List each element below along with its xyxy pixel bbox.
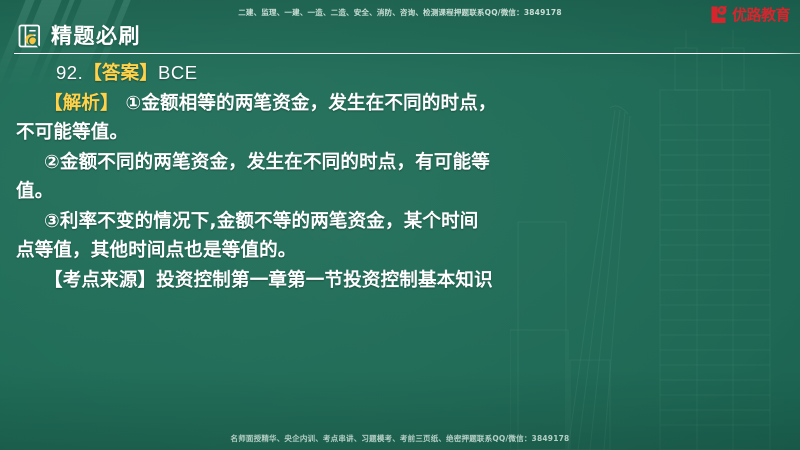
text-segment: 不可能等值。 <box>16 122 128 143</box>
brand-name: 优路教育 <box>732 8 790 23</box>
book-search-icon <box>16 22 44 50</box>
text-line: 不可能等值。 <box>16 118 616 148</box>
highlighted-label: 【答案】 <box>83 63 158 84</box>
text-line: 92.【答案】BCE <box>16 58 616 89</box>
page-title: 精题必刷 <box>51 26 141 47</box>
footer-promo-text: 名师面授精华、央企内训、考点串讲、习题模考、考前三页纸、绝密押题联系QQ/微信：… <box>0 433 800 444</box>
text-segment: ②金额不同的两笔资金，发生在不同的时点，有可能等 <box>44 152 490 173</box>
text-segment: 值。 <box>16 181 53 202</box>
text-segment: 【考点来源】投资控制第一章第一节投资控制基本知识 <box>44 270 493 291</box>
text-line: 点等值，其他时间点也是等值的。 <box>16 236 616 266</box>
text-segment: 点等值，其他时间点也是等值的。 <box>16 240 297 261</box>
slide-header: 二建、监理、一建、一造、二造、安全、消防、咨询、检测课程押题联系QQ/微信：38… <box>0 0 800 55</box>
text-line: ②金额不同的两笔资金，发生在不同的时点，有可能等 <box>16 148 616 178</box>
text-line: ③利率不变的情况下,金额不等的两笔资金，某个时间 <box>16 207 616 237</box>
slide-canvas: 二建、监理、一建、一造、二造、安全、消防、咨询、检测课程押题联系QQ/微信：38… <box>0 0 800 450</box>
text-segment: ③利率不变的情况下,金额不等的两笔资金，某个时间 <box>44 211 479 232</box>
text-line: 【考点来源】投资控制第一章第一节投资控制基本知识 <box>16 266 616 296</box>
promo-banner-text: 二建、监理、一建、一造、二造、安全、消防、咨询、检测课程押题联系QQ/微信：38… <box>0 7 800 18</box>
text-segment: ①金额相等的两笔资金，发生在不同的时点， <box>119 93 497 114</box>
slide-body-text: 92.【答案】BCE【解析】 ①金额相等的两笔资金，发生在不同的时点，不可能等值… <box>16 58 616 295</box>
text-segment: BCE <box>158 62 198 83</box>
slide-title-row: 精题必刷 <box>16 22 141 50</box>
brand-logo: 优路教育 <box>709 5 790 25</box>
text-segment: 92. <box>56 62 83 83</box>
youlu-l-logo-icon <box>709 5 729 25</box>
header-divider <box>14 53 800 54</box>
text-line: 【解析】 ①金额相等的两笔资金，发生在不同的时点， <box>16 89 616 119</box>
highlighted-label: 【解析】 <box>44 93 119 114</box>
text-line: 值。 <box>16 177 616 207</box>
